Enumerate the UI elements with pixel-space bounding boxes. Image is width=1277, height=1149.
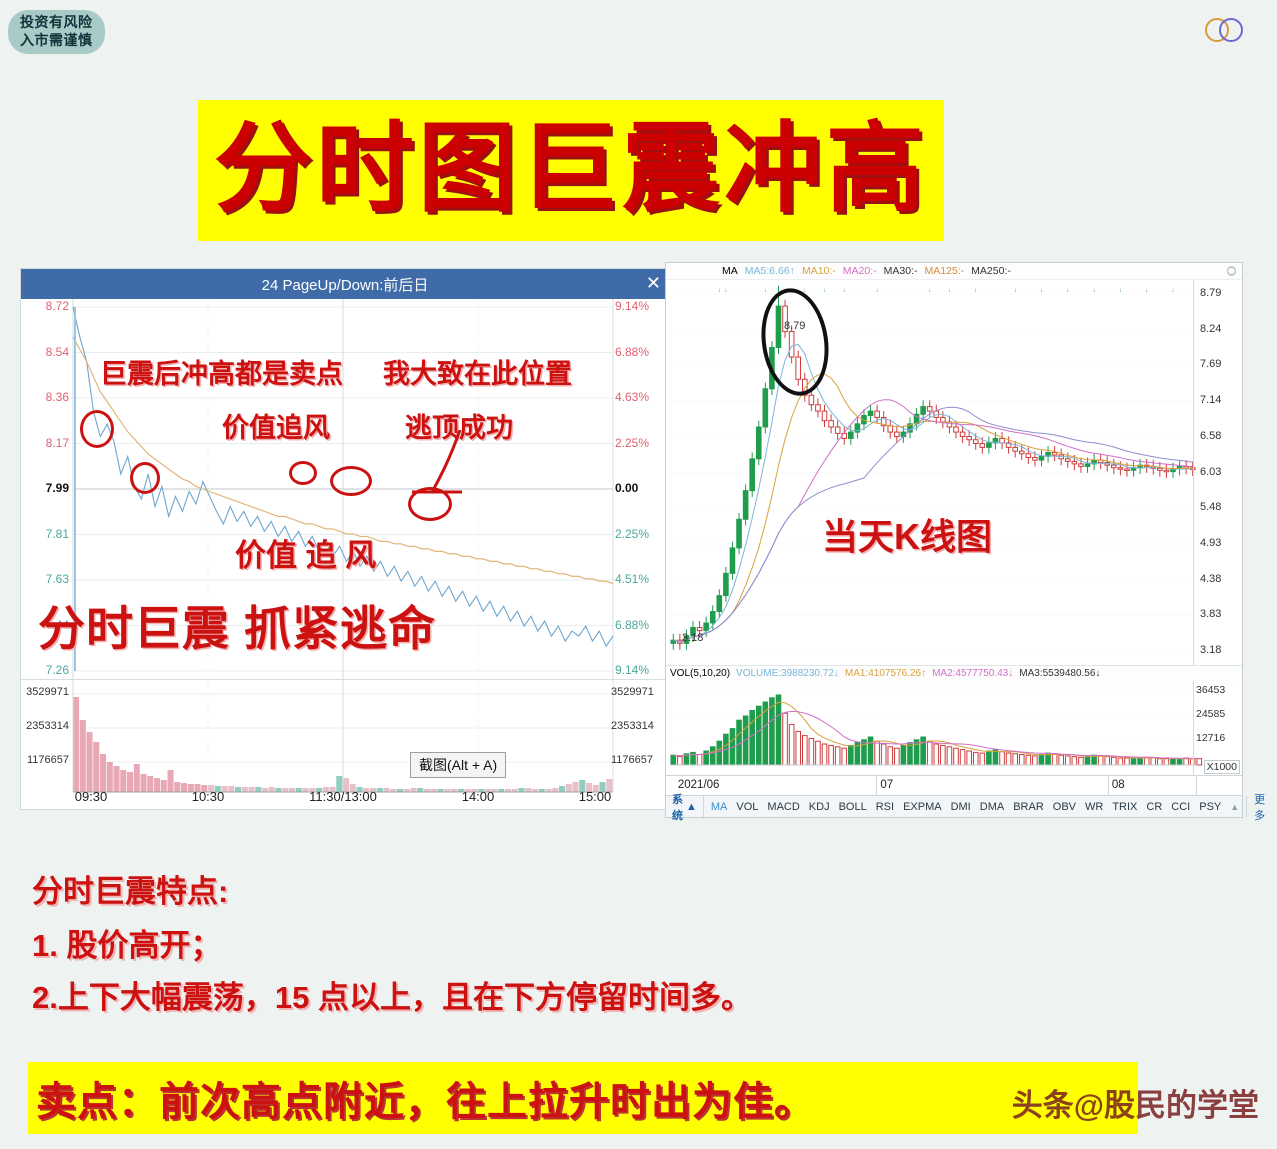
page-title: 分时图巨震冲高 (198, 100, 944, 241)
svg-text:↓: ↓ (1092, 287, 1096, 294)
svg-text:↓: ↓ (1066, 287, 1070, 294)
screenshot-hint-tooltip: 截图(Alt + A) (410, 752, 506, 778)
body-line-2: 2.上下大幅震荡，15 点以上，且在下方停留时间多。 (32, 972, 752, 1017)
kline-volume-axis-separator (1193, 681, 1194, 775)
intraday-time-tick: 15:00 (579, 789, 612, 804)
annotation-value-chase-2: 价值 追 风 (235, 530, 376, 575)
intraday-y-right-tick: 4.51% (615, 572, 667, 586)
ma5-value: MA5:6.66↑ (745, 265, 795, 277)
svg-text:↓: ↓ (974, 287, 978, 294)
intraday-volume-tick-right: 2353314 (611, 720, 667, 732)
kline-date-axis: 2021/060708 (666, 775, 1242, 795)
marker-circle-5 (408, 487, 452, 521)
kline-y-tick: 6.58 (1200, 430, 1240, 442)
annotation-escape-top: 逃顶成功 (405, 406, 513, 445)
indicator-macd-button[interactable]: MACD (767, 801, 799, 813)
vol-label: VOL(5,10,20) (670, 668, 730, 679)
volume-settings-gear-icon[interactable] (1227, 266, 1236, 275)
vol-ma1-value: MA1:4107576.26↑ (845, 668, 926, 679)
indicator-psy-button[interactable]: PSY (1199, 801, 1221, 813)
footer-highlight-band: 卖点：前次高点附近，往上拉升时出为佳。 (28, 1062, 1138, 1134)
volume-value: VOLUME:3988230.72↓ (736, 668, 839, 679)
intraday-volume-tick-right: 3529971 (611, 686, 667, 698)
intraday-time-axis: 09:3010:3011:30/13:0014:0015:00 (21, 789, 669, 807)
svg-text:↓: ↓ (823, 287, 827, 294)
intraday-window-title: 24 PageUp/Down:前后日 (262, 274, 429, 295)
ring-purple-icon (1219, 18, 1243, 42)
kline-date-tick: 2021/06 (678, 779, 720, 791)
close-icon[interactable]: ✕ (646, 273, 661, 294)
kline-y-tick: 3.18 (1200, 644, 1240, 656)
intraday-y-left-tick: 8.54 (23, 345, 69, 359)
intraday-time-tick: 11:30/13:00 (309, 789, 377, 804)
indicator-expma-button[interactable]: EXPMA (903, 801, 942, 813)
footer-text: 卖点：前次高点附近，往上拉升时出为佳。 (36, 1069, 815, 1127)
intraday-y-right-tick: 2.25% (615, 436, 667, 450)
interlocking-rings-logo (1205, 16, 1249, 44)
svg-text:↓: ↓ (875, 287, 879, 294)
kline-volume-svg (666, 681, 1242, 775)
kline-axis-separator (1193, 280, 1194, 665)
system-menu-button[interactable]: 系统 ▲ (666, 796, 704, 817)
indicator-dmi-button[interactable]: DMI (951, 801, 971, 813)
indicator-ma-button[interactable]: MA (711, 801, 728, 813)
kline-base-label: 3.18 (682, 632, 703, 644)
svg-text:↓: ↓ (1040, 287, 1044, 294)
badge-line-2: 入市需谨慎 (20, 32, 93, 50)
kline-price-svg: ↓↓↓↓↓↓↓↓↓↓↓↓↓↓↓↓↓↓ (666, 280, 1242, 665)
intraday-volume-tick: 2353314 (21, 720, 69, 732)
indicator-boll-button[interactable]: BOLL (839, 801, 867, 813)
indicator-kdj-button[interactable]: KDJ (809, 801, 830, 813)
volume-unit-label: X1000 (1204, 760, 1240, 774)
svg-text:↓: ↓ (718, 287, 722, 294)
kline-y-tick: 4.93 (1200, 537, 1240, 549)
intraday-y-left-tick: 7.81 (23, 527, 69, 541)
intraday-y-right-tick: 6.88% (615, 618, 667, 632)
kline-y-tick: 8.24 (1200, 323, 1240, 335)
kline-date-tick: 08 (1112, 779, 1125, 791)
intraday-time-tick: 14:00 (462, 789, 495, 804)
intraday-y-right-tick: 4.63% (615, 390, 667, 404)
svg-text:↓: ↓ (764, 287, 768, 294)
marker-circle-4 (330, 466, 372, 496)
annotation-my-position: 我大致在此位置 (383, 352, 572, 391)
svg-text:↓: ↓ (928, 287, 932, 294)
ma-label: MA (722, 265, 738, 277)
kline-ma-header: MA MA5:6.66↑ MA10:- MA20:- MA30:- MA125:… (666, 263, 1242, 280)
intraday-y-left-tick: 7.26 (23, 663, 69, 677)
slide-root: 投资有风险 入市需谨慎 分时图巨震冲高 24 PageUp/Down:前后日 ✕… (0, 0, 1277, 1149)
annotation-sell-on-spike: 巨震后冲高都是卖点 (100, 352, 343, 391)
indicator-vol-button[interactable]: VOL (736, 801, 758, 813)
intraday-y-right-tick: 9.14% (615, 663, 667, 677)
risk-warning-badge: 投资有风险 入市需谨慎 (8, 10, 105, 54)
intraday-y-left-tick: 7.99 (23, 481, 69, 495)
intraday-y-right-tick: 9.14% (615, 299, 667, 313)
indicator-trix-button[interactable]: TRIX (1112, 801, 1137, 813)
indicator-obv-button[interactable]: OBV (1053, 801, 1076, 813)
kline-price-plot: ↓↓↓↓↓↓↓↓↓↓↓↓↓↓↓↓↓↓ 8.798.247.697.146.586… (666, 280, 1242, 665)
intraday-time-tick: 09:30 (75, 789, 108, 804)
indicator-cr-button[interactable]: CR (1146, 801, 1162, 813)
intraday-window-titlebar: 24 PageUp/Down:前后日 ✕ (21, 269, 669, 299)
intraday-y-right-tick: 2.25% (615, 527, 667, 541)
marker-circle-1 (80, 410, 114, 448)
intraday-y-right-tick: 0.00 (615, 481, 667, 495)
intraday-y-left-tick: 8.72 (23, 299, 69, 313)
annotation-daily-kline: 当天K线图 (822, 508, 992, 560)
svg-text:↓: ↓ (948, 287, 952, 294)
svg-text:↓: ↓ (1171, 287, 1175, 294)
svg-text:↓: ↓ (842, 287, 846, 294)
badge-line-1: 投资有风险 (20, 14, 93, 32)
svg-text:↓: ↓ (1145, 287, 1149, 294)
indicator-items: MAVOLMACDKDJBOLLRSIEXPMADMIDMABRAROBVWRT… (704, 801, 1246, 813)
ma125-value: MA125:- (924, 265, 964, 277)
indicator-cci-button[interactable]: CCI (1171, 801, 1190, 813)
kline-y-tick: 7.69 (1200, 358, 1240, 370)
intraday-volume-tick-right: 1176657 (611, 754, 667, 766)
intraday-volume-plot: 3529971352997123533142353314117665711766… (21, 679, 669, 809)
kline-y-tick: 4.38 (1200, 573, 1240, 585)
kline-date-separator (876, 776, 877, 795)
kline-volume-tick: 12716 (1196, 732, 1240, 744)
svg-text:↓: ↓ (1119, 287, 1123, 294)
ma30-value: MA30:- (884, 265, 918, 277)
caret-up-icon: ▲ (686, 801, 697, 813)
vol-ma2-value: MA2:4577750.43↓ (932, 668, 1013, 679)
kline-y-tick: 5.48 (1200, 501, 1240, 513)
intraday-y-left-tick: 7.63 (23, 572, 69, 586)
kline-date-separator-end (1196, 776, 1197, 795)
kline-volume-tick: 36453 (1196, 684, 1240, 696)
system-menu-label: 系统 (672, 791, 683, 823)
ma10-value: MA10:- (802, 265, 836, 277)
marker-circle-2 (130, 462, 160, 494)
intraday-volume-tick: 1176657 (21, 754, 69, 766)
indicator-rsi-button[interactable]: RSI (876, 801, 894, 813)
marker-circle-3 (289, 461, 317, 485)
annotation-value-chase-1: 价值追风 (222, 406, 330, 445)
intraday-volume-tick: 3529971 (21, 686, 69, 698)
intraday-time-tick: 10:30 (192, 789, 225, 804)
intraday-y-left-tick: 8.36 (23, 390, 69, 404)
kline-volume-plot: 364532458512716 X1000 (666, 681, 1242, 775)
body-heading: 分时巨震特点: (32, 866, 228, 911)
kline-y-tick: 6.03 (1200, 466, 1240, 478)
ma250-value: MA250:- (971, 265, 1011, 277)
ma20-value: MA20:- (843, 265, 877, 277)
kline-y-tick: 8.79 (1200, 287, 1240, 299)
kline-indicator-toolbar: 系统 ▲ MAVOLMACDKDJBOLLRSIEXPMADMIDMABRARO… (666, 795, 1242, 817)
kline-y-tick: 3.83 (1200, 608, 1240, 620)
indicator-brar-button[interactable]: BRAR (1013, 801, 1044, 813)
intraday-y-right-tick: 6.88% (615, 345, 667, 359)
kline-volume-tick: 24585 (1196, 708, 1240, 720)
more-indicators-button[interactable]: 更多 (1246, 796, 1272, 817)
indicator-scroll-up-icon[interactable]: ▲ (1230, 802, 1239, 812)
annotation-escape-now: 分时巨震 抓紧逃命 (38, 590, 436, 659)
kline-date-tick: 07 (880, 779, 893, 791)
svg-text:↓: ↓ (724, 287, 728, 294)
kline-y-tick: 7.14 (1200, 394, 1240, 406)
page-title-text: 分时图巨震冲高 (198, 100, 944, 241)
watermark: 头条@股民的学堂 (1012, 1080, 1259, 1125)
indicator-dma-button[interactable]: DMA (980, 801, 1004, 813)
indicator-wr-button[interactable]: WR (1085, 801, 1103, 813)
intraday-y-left-tick: 8.17 (23, 436, 69, 450)
vol-ma3-value: MA3:5539480.56↓ (1019, 668, 1100, 679)
svg-text:↓: ↓ (1013, 287, 1017, 294)
kline-date-separator (1108, 776, 1109, 795)
kline-volume-header: VOL(5,10,20) VOLUME:3988230.72↓ MA1:4107… (666, 665, 1242, 681)
body-line-1: 1. 股价高开； (32, 920, 221, 965)
